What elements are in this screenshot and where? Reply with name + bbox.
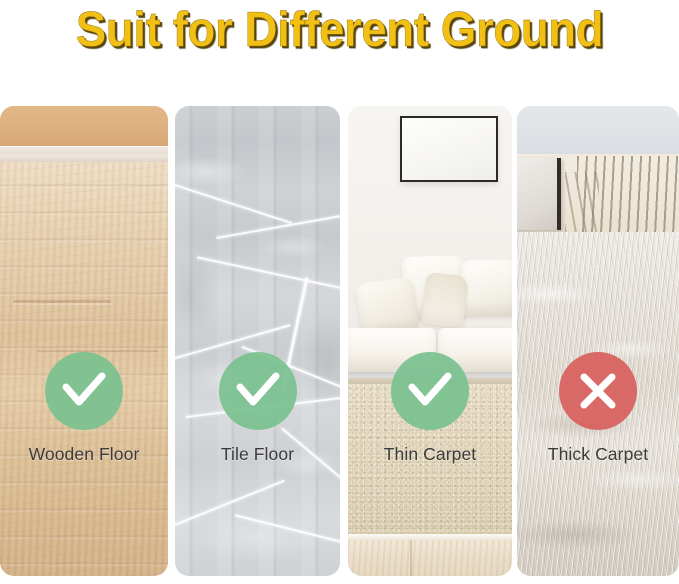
sofa-throw-pillow [355,276,420,336]
panel-thick-carpet[interactable]: Thick Carpet [517,106,679,576]
wall-picture-frame [517,158,561,230]
panel-label-tile-floor: Tile Floor [175,443,340,465]
sofa-cushion [460,260,512,316]
check-icon [407,371,453,411]
panel-label-thin-carpet: Thin Carpet [348,443,512,465]
room-divider-rods [565,172,599,234]
background-upper-band [517,106,679,154]
wall-picture-frame [400,116,498,182]
sofa-throw-pillow [421,272,468,328]
plank-seam [37,350,158,352]
wood-floor-strip [348,540,512,576]
cross-icon [577,370,619,412]
tile-floor-surface [175,106,340,576]
wall-surface [0,106,168,146]
panel-label-wooden-floor: Wooden Floor [0,443,168,465]
page-title: Suit for Different Ground [76,2,603,58]
panel-wooden-floor[interactable]: Wooden Floor [0,106,168,576]
plank-seam [13,300,110,303]
status-badge-rejected [559,352,637,430]
status-badge-approved [391,352,469,430]
check-icon [235,371,281,411]
title-bar: Suit for Different Ground [0,0,679,102]
status-badge-approved [45,352,123,430]
ground-type-panels: Wooden Floor Tile Floor [0,106,679,580]
panel-tile-floor[interactable]: Tile Floor [175,106,340,576]
check-icon [61,371,107,411]
skirting-board [0,146,168,162]
floor-plank-seam [410,540,412,576]
status-badge-approved [219,352,297,430]
panel-label-thick-carpet: Thick Carpet [517,443,679,465]
panel-thin-carpet[interactable]: Thin Carpet [348,106,512,576]
